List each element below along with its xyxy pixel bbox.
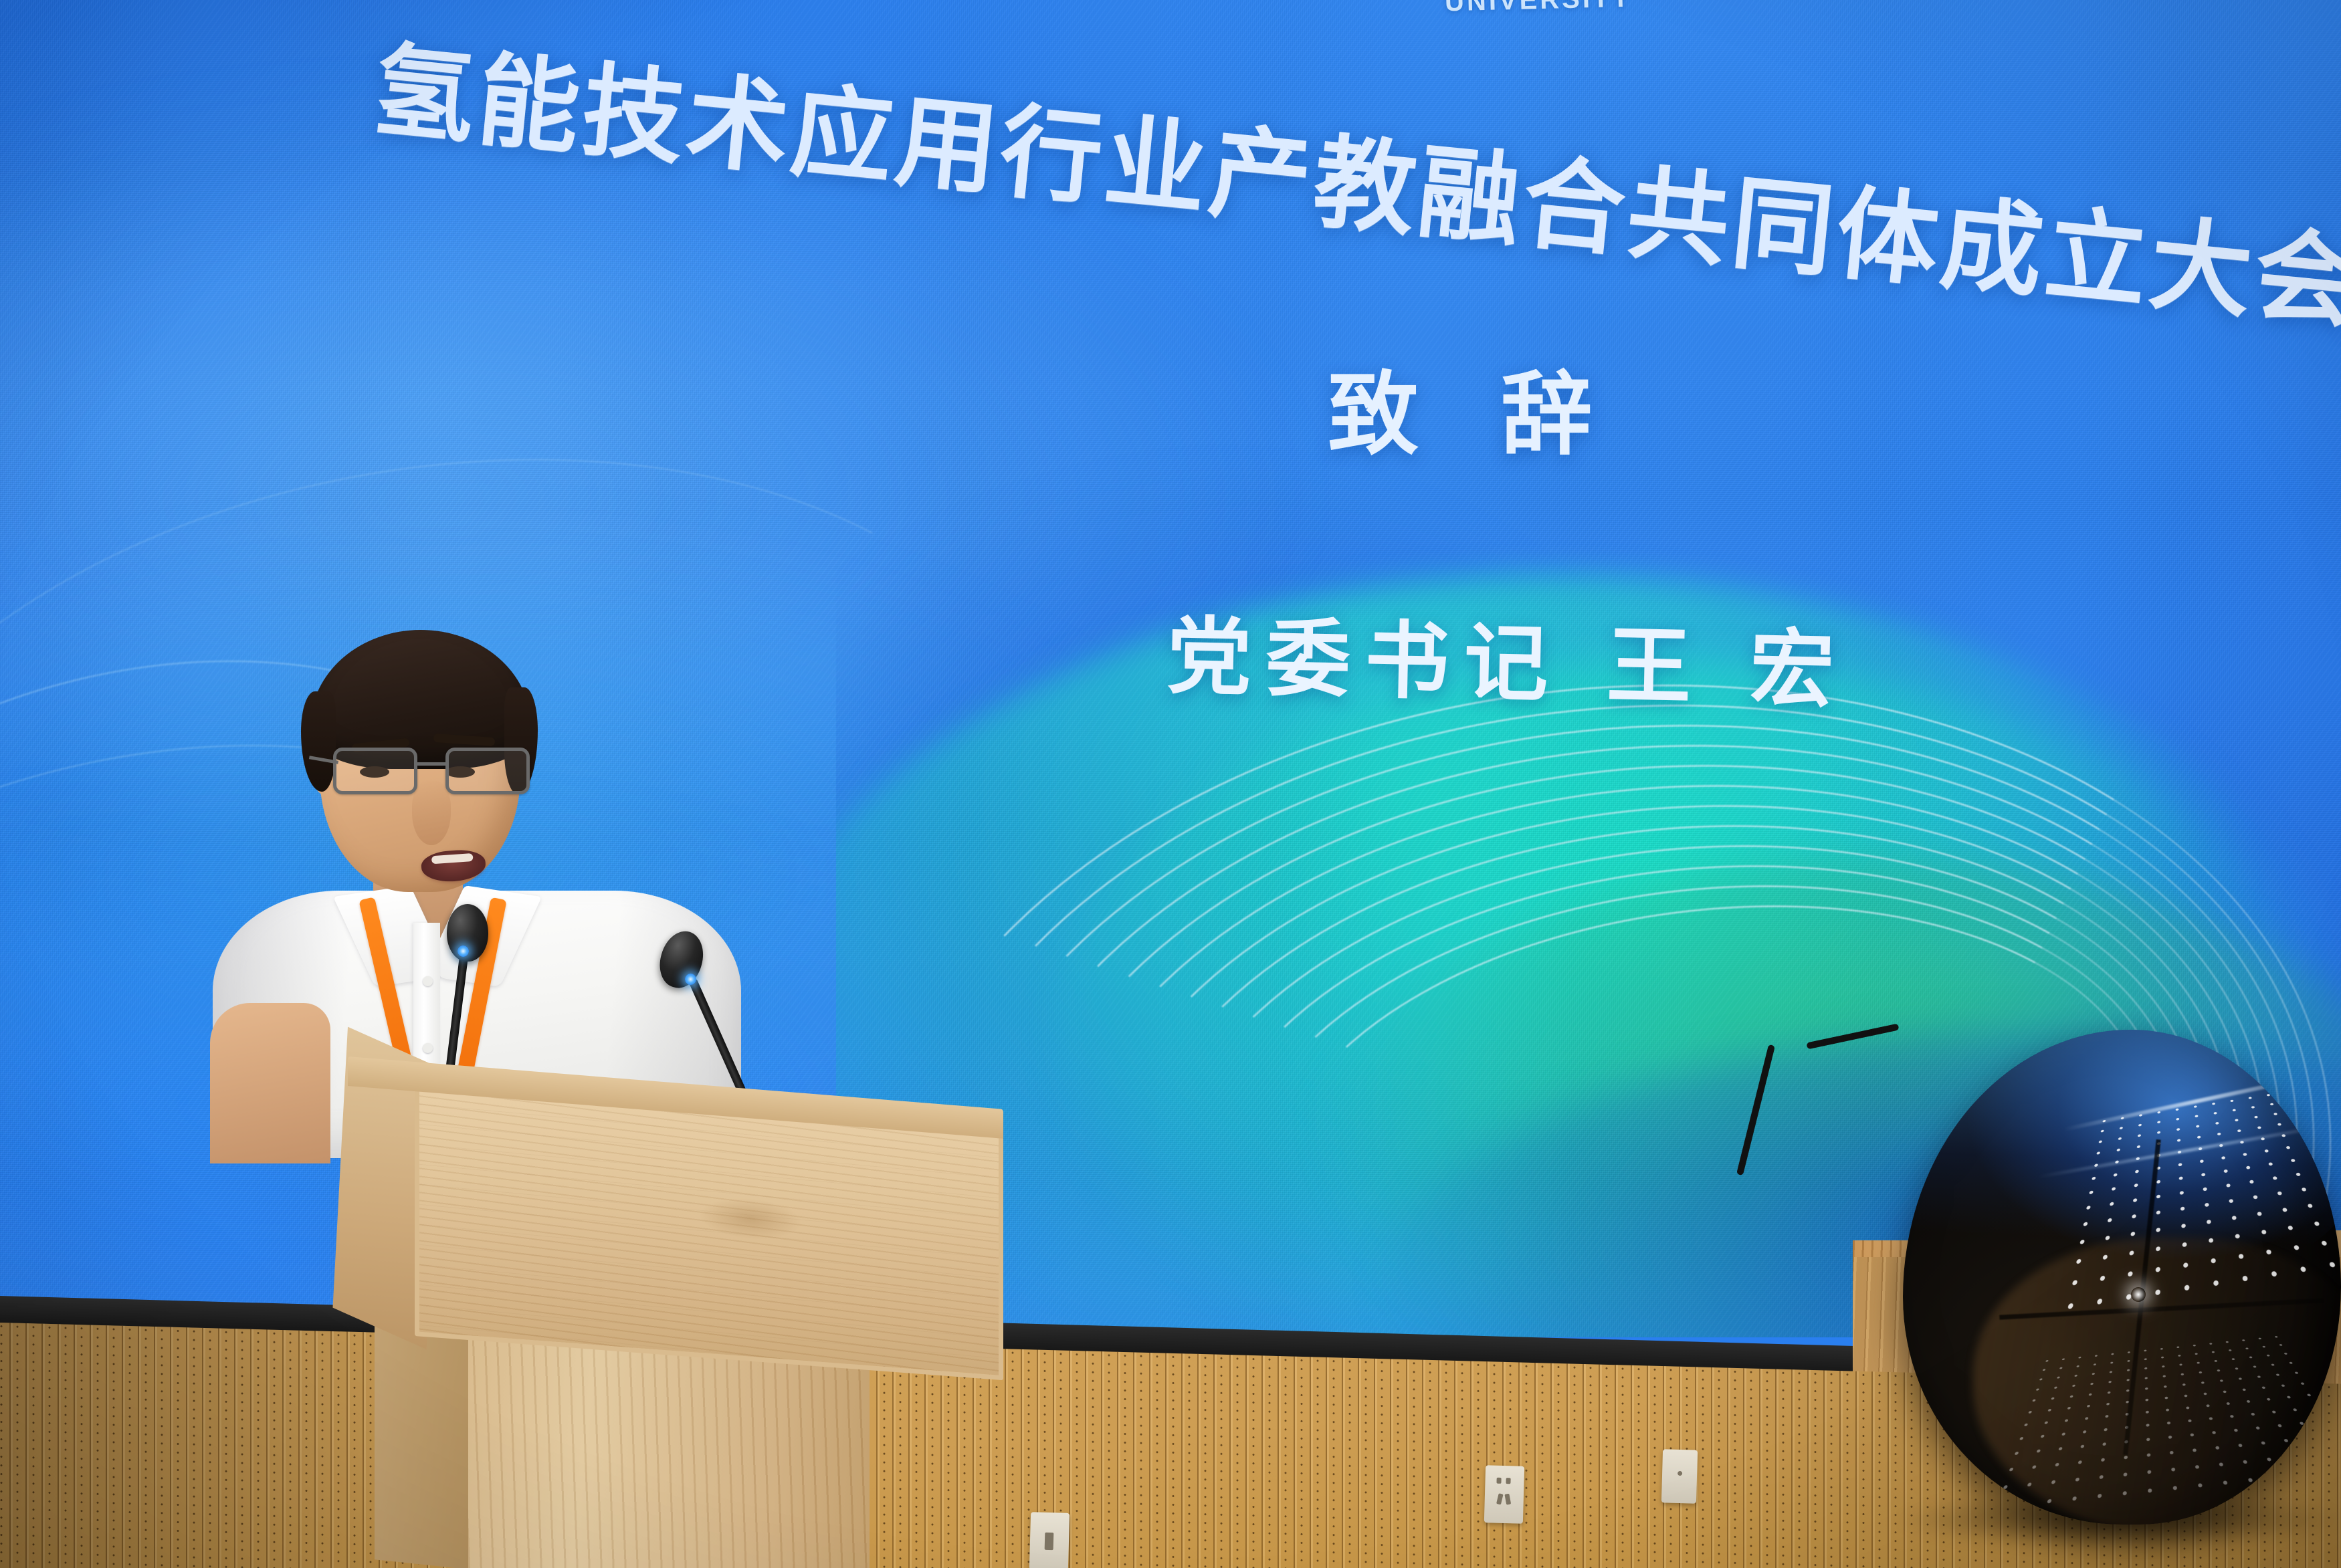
presenter-line: 党委书记 王 宏 <box>1166 588 1850 724</box>
mic-left-status-led <box>457 945 469 957</box>
display-pod-object <box>1903 1030 2341 1525</box>
mic-right-capsule <box>653 926 709 993</box>
speaker-nose <box>412 781 451 845</box>
eyeglass-lens-left <box>333 748 417 794</box>
event-headline: 氢能技术应用行业产教融合共同体成立大会 <box>367 7 2341 348</box>
eyeglass-bridge <box>416 762 448 766</box>
event-subhead: 致 辞 <box>1328 341 1617 473</box>
wall-plate-blank[interactable] <box>1661 1449 1698 1503</box>
lectern-base-side <box>375 1312 475 1568</box>
lectern-base-woodgrain <box>468 1331 870 1568</box>
wall-plate-switch[interactable] <box>1029 1512 1070 1568</box>
pod-specular-glint <box>2131 1287 2146 1302</box>
lectern <box>348 1056 1003 1568</box>
lectern-base <box>468 1331 870 1568</box>
wall-plate-outlet[interactable] <box>1484 1465 1524 1524</box>
university-english-text: UNIVERSITY <box>1444 0 1632 17</box>
conference-stage-photo: UNIVERSITY 氢能技术应用行业产教融合共同体成立大会 致 辞 党委书记 … <box>0 0 2341 1568</box>
mic-right-status-led <box>685 974 696 985</box>
eyeglass-lens-right <box>445 748 530 794</box>
speaker-left-arm <box>210 1003 330 1163</box>
